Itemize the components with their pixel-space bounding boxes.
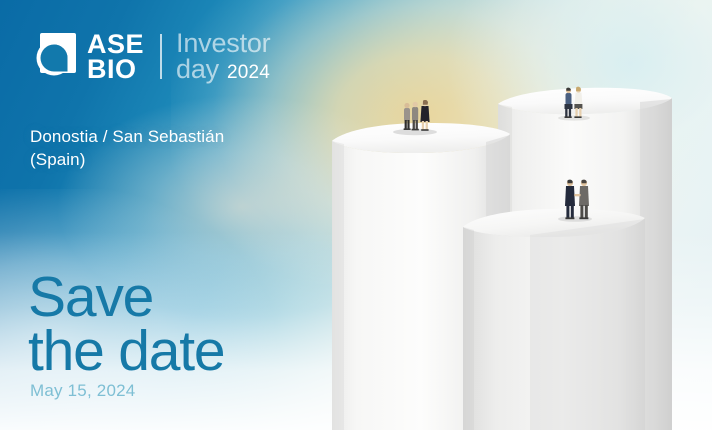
- event-title-line2: day: [176, 56, 219, 82]
- save-the-date-banner: ASE BIO Investor day 2024 Donostia / San…: [0, 0, 712, 430]
- brand-name-line1: ASE: [87, 32, 144, 57]
- event-date: May 15, 2024: [30, 381, 135, 401]
- event-location: Donostia / San Sebastián (Spain): [30, 125, 224, 172]
- event-title-line1: Investor: [176, 30, 270, 56]
- brand-name-line2: BIO: [87, 57, 144, 82]
- event-title: Investor day 2024: [176, 30, 270, 83]
- event-year: 2024: [227, 64, 270, 83]
- location-line2: (Spain): [30, 148, 224, 171]
- pillar-middle: [463, 209, 645, 430]
- figure-group-left: [393, 100, 437, 135]
- headline-line2: the date: [28, 325, 224, 379]
- headline: Save the date: [28, 271, 224, 378]
- brand-logo-row: ASE BIO Investor day 2024: [30, 30, 270, 83]
- location-line1: Donostia / San Sebastián: [30, 125, 224, 148]
- brand-wordmark: ASE BIO: [87, 32, 144, 82]
- logo-divider: [160, 34, 162, 79]
- asebio-logo-icon: [30, 31, 80, 83]
